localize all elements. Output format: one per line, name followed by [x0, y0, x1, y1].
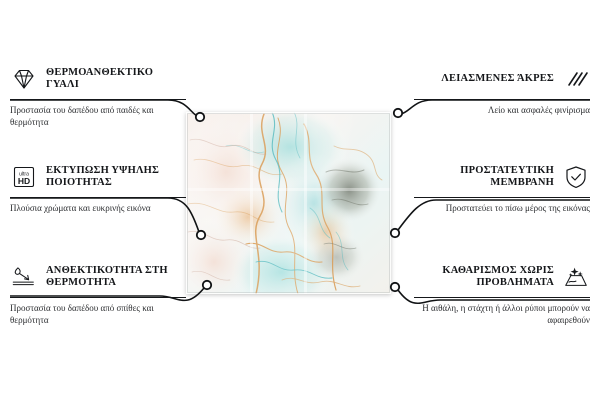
connector-dot: [394, 109, 402, 117]
product-image: [186, 112, 391, 294]
feature-underline: [414, 197, 590, 198]
feature-polished-edges: ΛΕΙΑΣΜΕΝΕΣ ΆΚΡΕΣ Λείο και ασφαλές φινίρι…: [414, 64, 590, 117]
glass-edge: [186, 112, 391, 294]
feature-title: ΚΑΘΑΡΙΣΜΟΣ ΧΩΡΙΣ ΠΡΟΒΛΗΜΑΤΑ: [414, 265, 554, 290]
feature-underline: [10, 297, 186, 298]
feature-underline: [414, 99, 590, 100]
feature-description: Προστατεύει το πίσω μέρος της εικόνας: [414, 203, 590, 215]
feature-title: ΑΝΘΕΚΤΙΚΟΤΗΤΑ ΣΤΗ ΘΕΡΜΟΤΗΤΑ: [46, 265, 186, 290]
feature-heat-resistant-glass: ΘΕΡΜΟΑΝΘΕΚΤΙΚΟ ΓΥΑΛΙ Προστασία του δαπέδ…: [10, 64, 186, 128]
feature-description: Προστασία του δαπέδου από παιδές και θερ…: [10, 105, 186, 128]
feature-underline: [414, 297, 590, 298]
feature-header: ΑΝΘΕΚΤΙΚΟΤΗΤΑ ΣΤΗ ΘΕΡΜΟΤΗΤΑ: [10, 262, 186, 292]
feature-header: ΠΡΟΣΤΑΤΕΥΤΙΚΗ ΜΕΜΒΡΑΝΗ: [414, 162, 590, 192]
feature-description: Προστασία του δαπέδου από σπίθες και θερ…: [10, 303, 186, 326]
shield-check-icon: [562, 164, 590, 190]
heat-resistance-icon: [10, 264, 38, 290]
diamond-icon: [10, 66, 38, 92]
glass-panel: [186, 112, 391, 294]
feature-title: ΠΡΟΣΤΑΤΕΥΤΙΚΗ ΜΕΜΒΡΑΝΗ: [414, 165, 554, 190]
feature-title: ΕΚΤΥΠΩΣΗ ΥΨΗΛΗΣ ΠΟΙΟΤΗΤΑΣ: [46, 165, 186, 190]
feature-description: Η αιθάλη, η στάχτη ή άλλοι ρύποι μπορούν…: [414, 303, 590, 326]
feature-description: Λείο και ασφαλές φινίρισμα: [414, 105, 590, 117]
connector-dot: [391, 283, 399, 291]
feature-underline: [10, 197, 186, 198]
connector-dot: [391, 229, 399, 237]
polished-edges-icon: [562, 66, 590, 92]
feature-easy-cleaning: ΚΑΘΑΡΙΣΜΟΣ ΧΩΡΙΣ ΠΡΟΒΛΗΜΑΤΑ Η αιθάλη, η …: [414, 262, 590, 326]
feature-high-quality-print: ultra HD ΕΚΤΥΠΩΣΗ ΥΨΗΛΗΣ ΠΟΙΟΤΗΤΑΣ Πλούσ…: [10, 162, 186, 215]
feature-header: ΛΕΙΑΣΜΕΝΕΣ ΆΚΡΕΣ: [414, 64, 590, 94]
infographic-canvas: ΘΕΡΜΟΑΝΘΕΚΤΙΚΟ ΓΥΑΛΙ Προστασία του δαπέδ…: [0, 0, 600, 400]
feature-header: ultra HD ΕΚΤΥΠΩΣΗ ΥΨΗΛΗΣ ΠΟΙΟΤΗΤΑΣ: [10, 162, 186, 192]
feature-protective-membrane: ΠΡΟΣΤΑΤΕΥΤΙΚΗ ΜΕΜΒΡΑΝΗ Προστατεύει το πί…: [414, 162, 590, 215]
feature-header: ΚΑΘΑΡΙΣΜΟΣ ΧΩΡΙΣ ΠΡΟΒΛΗΜΑΤΑ: [414, 262, 590, 292]
feature-title: ΛΕΙΑΣΜΕΝΕΣ ΆΚΡΕΣ: [414, 73, 554, 86]
ultra-hd-icon: ultra HD: [10, 164, 38, 190]
feature-heat-resistance: ΑΝΘΕΚΤΙΚΟΤΗΤΑ ΣΤΗ ΘΕΡΜΟΤΗΤΑ Προστασία το…: [10, 262, 186, 326]
feature-title: ΘΕΡΜΟΑΝΘΕΚΤΙΚΟ ΓΥΑΛΙ: [46, 67, 186, 92]
sparkle-cloth-icon: [562, 264, 590, 290]
feature-description: Πλούσια χρώματα και ευκρινής εικόνα: [10, 203, 186, 215]
feature-underline: [10, 99, 186, 100]
feature-header: ΘΕΡΜΟΑΝΘΕΚΤΙΚΟ ΓΥΑΛΙ: [10, 64, 186, 94]
hd-label: HD: [18, 176, 30, 186]
